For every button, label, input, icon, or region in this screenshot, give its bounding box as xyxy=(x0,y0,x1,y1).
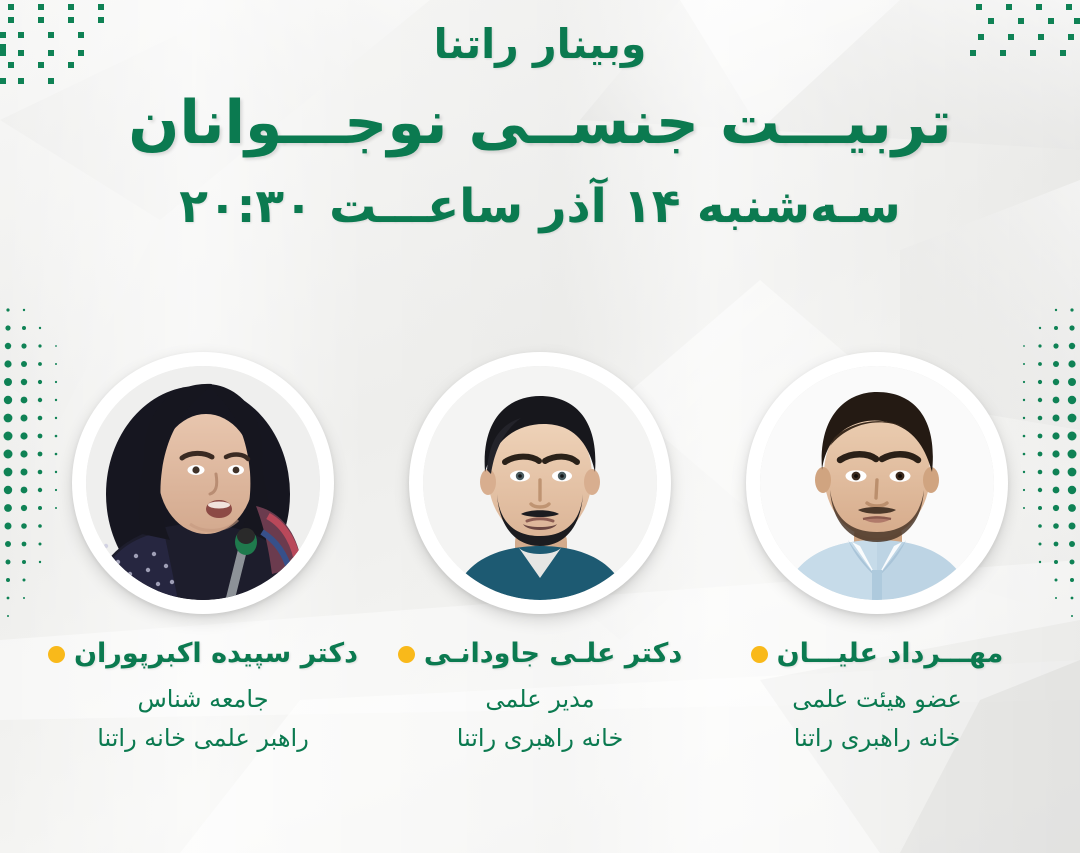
speaker-list: دکتر سپیده اکبرپوران جامعه شناس راهبر عل… xyxy=(44,352,1036,756)
speaker-name: دکتر سپیده اکبرپوران xyxy=(74,638,358,670)
avatar xyxy=(746,352,1008,614)
webinar-kicker: وبینار راتنا xyxy=(0,22,1080,67)
webinar-poster: وبینار راتنا تربیـــت جنســی نوجـــوانان… xyxy=(0,0,1080,853)
event-datetime: سـه‌شنبه ۱۴ آذر ساعـــت ۲۰:۳۰ xyxy=(0,180,1080,234)
avatar-image-akbarpouran xyxy=(86,366,320,600)
poster-header: وبینار راتنا تربیـــت جنســی نوجـــوانان… xyxy=(0,22,1080,234)
speaker-card: دکتر علـی جاودانـی مدیر علمی خانه راهبری… xyxy=(381,352,699,756)
speaker-org: راهبر علمی خانه راتنا xyxy=(97,721,309,756)
speaker-role: مدیر علمی xyxy=(485,682,594,717)
avatar xyxy=(72,352,334,614)
avatar-image-alian xyxy=(760,366,994,600)
bullet-dot-icon xyxy=(48,646,65,663)
bullet-dot-icon xyxy=(751,646,768,663)
speaker-card: دکتر سپیده اکبرپوران جامعه شناس راهبر عل… xyxy=(44,352,362,756)
speaker-role: جامعه شناس xyxy=(137,682,268,717)
speaker-name-row: دکتر سپیده اکبرپوران xyxy=(48,638,358,670)
speaker-role: عضو هیئت علمی xyxy=(792,682,962,717)
speaker-name-row: دکتر علـی جاودانـی xyxy=(398,638,682,670)
speaker-name: مهـــرداد علیـــان xyxy=(777,638,1004,670)
bullet-dot-icon xyxy=(398,646,415,663)
speaker-name-row: مهـــرداد علیـــان xyxy=(751,638,1004,670)
speaker-card: مهـــرداد علیـــان عضو هیئت علمی خانه را… xyxy=(718,352,1036,756)
speaker-name: دکتر علـی جاودانـی xyxy=(424,638,682,670)
page-title: تربیـــت جنســی نوجـــوانان xyxy=(0,89,1080,158)
avatar-image-javdani xyxy=(423,366,657,600)
avatar xyxy=(409,352,671,614)
speaker-org: خانه راهبری راتنا xyxy=(457,721,624,756)
speaker-org: خانه راهبری راتنا xyxy=(794,721,961,756)
